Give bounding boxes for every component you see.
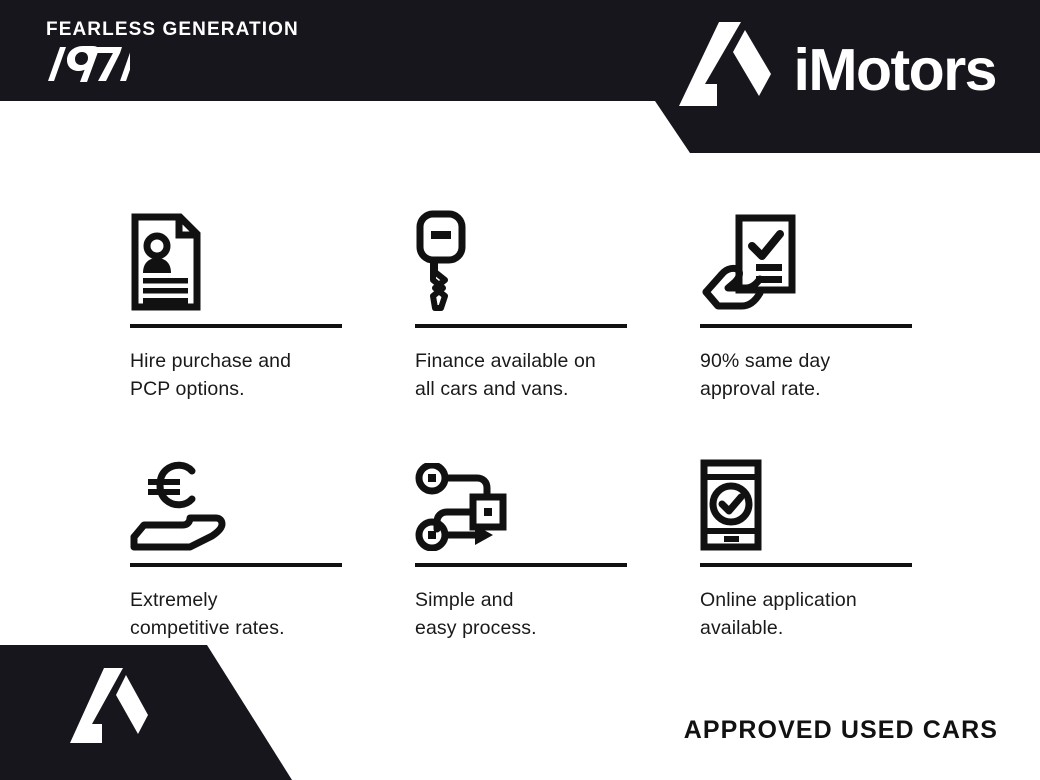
divider-rule <box>415 324 627 328</box>
year-1971-mark <box>34 41 130 87</box>
divider-rule <box>700 563 912 567</box>
divider-rule <box>130 563 342 567</box>
feature-caption: Online application available. <box>700 587 912 642</box>
feature-card: Finance available on all cars and vans. <box>415 190 627 403</box>
footer-shape <box>0 645 300 780</box>
poster-canvas: FEARLESS GENERATION iMotors <box>0 0 1040 780</box>
feature-grid: Hire purchase and PCP options. Finance a… <box>130 190 920 643</box>
mobile-approved-icon <box>700 429 912 551</box>
header-tagline: FEARLESS GENERATION <box>46 19 299 41</box>
feature-card: Hire purchase and PCP options. <box>130 190 342 403</box>
divider-rule <box>700 324 912 328</box>
feature-caption: Simple and easy process. <box>415 587 627 642</box>
brand-lockup: iMotors <box>679 22 996 118</box>
divider-rule <box>415 563 627 567</box>
feature-card: 90% same day approval rate. <box>700 190 912 403</box>
feature-caption: Finance available on all cars and vans. <box>415 348 627 403</box>
feature-card: Online application available. <box>700 429 912 642</box>
divider-rule <box>130 324 342 328</box>
footer-approved-used-cars: APPROVED USED CARS <box>684 716 998 745</box>
hand-holding-checklist-icon <box>700 190 912 312</box>
euro-in-hand-icon <box>130 429 342 551</box>
feature-card: Simple and easy process. <box>415 429 627 642</box>
brand-name: iMotors <box>793 41 996 100</box>
imotors-chevron-logo-icon <box>679 22 771 118</box>
feature-caption: 90% same day approval rate. <box>700 348 912 403</box>
car-key-icon <box>415 190 627 312</box>
process-flow-icon <box>415 429 627 551</box>
document-person-icon <box>130 190 342 312</box>
feature-caption: Hire purchase and PCP options. <box>130 348 342 403</box>
feature-card: Extremely competitive rates. <box>130 429 342 642</box>
feature-caption: Extremely competitive rates. <box>130 587 342 642</box>
